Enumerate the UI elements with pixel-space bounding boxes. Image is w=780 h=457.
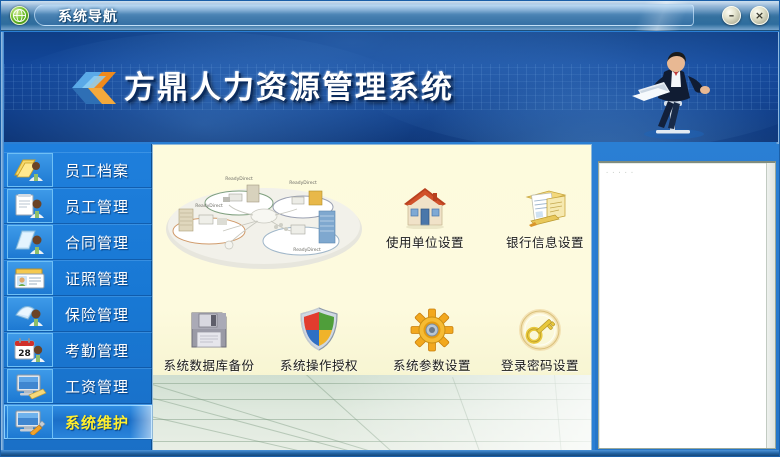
sidebar-item-label: 考勤管理 [65,340,129,361]
bank-document-icon [493,177,592,229]
svg-text:28: 28 [18,349,31,359]
window-title: 系统导航 [58,6,118,26]
svg-text:ReadyDirect: ReadyDirect [289,180,317,186]
sidebar-item-label: 保险管理 [65,304,129,325]
svg-text:ReadyDirect: ReadyDirect [293,247,321,253]
shield-icon [267,300,371,352]
app-globe-icon [10,6,29,25]
window-bottom-edge [1,450,780,456]
network-topology-illustration: ReadyDirect ReadyDirect ReadyDirect [161,163,367,275]
insurance-manage-icon [7,297,53,331]
employee-file-icon [7,153,53,187]
house-icon [373,177,477,229]
gear-icon [380,300,484,352]
tile-system-parameters[interactable]: 系统参数设置 [380,300,484,374]
right-info-panel[interactable]: ····· [598,161,776,449]
company-logo-icon [68,64,120,112]
sidebar-item-employee-manage[interactable]: 员工管理 [4,188,152,224]
sidebar-item-employee-file[interactable]: 员工档案 [4,152,152,188]
sidebar-item-label: 员工管理 [65,196,129,217]
tile-label: 系统参数设置 [380,355,484,374]
sidebar-item-label: 证照管理 [65,268,129,289]
main-content-panel: ReadyDirect ReadyDirect ReadyDirect [152,144,592,455]
system-maintenance-icon [7,405,53,439]
businessman-with-laptop-illustration [612,38,732,142]
sidebar-item-label: 系统维护 [65,412,129,433]
tile-bank-settings[interactable]: 银行信息设置 [493,177,592,251]
sidebar-item-system-maintenance[interactable]: 系统维护 [4,404,152,440]
sidebar-navigation: 员工档案 员工管理 [4,144,152,455]
application-window: 系统导航 – × 方鼎人力资源管理系统 [0,0,780,457]
svg-text:ReadyDirect: ReadyDirect [195,203,223,209]
employee-manage-icon [7,189,53,223]
tile-label: 登录密码设置 [488,355,592,374]
tile-login-password[interactable]: 登录密码设置 [488,300,592,374]
tile-label: 系统数据库备份 [157,355,261,374]
tile-label: 银行信息设置 [493,232,592,251]
sidebar-item-insurance-manage[interactable]: 保险管理 [4,296,152,332]
right-panel-scrollbar[interactable] [766,163,775,448]
payroll-monitor-icon [7,369,53,403]
title-bar: 系统导航 – × [1,1,780,31]
product-title: 方鼎人力资源管理系统 [124,62,454,107]
sidebar-item-contract-manage[interactable]: 合同管理 [4,224,152,260]
sidebar-item-label: 合同管理 [65,232,129,253]
sidebar-item-payroll-manage[interactable]: 工资管理 [4,368,152,404]
attendance-calendar-icon: 28 [7,333,53,367]
sidebar-item-license-manage[interactable]: 证照管理 [4,260,152,296]
svg-text:ReadyDirect: ReadyDirect [225,176,253,182]
tile-database-backup[interactable]: 系统数据库备份 [157,300,261,374]
floppy-disk-icon [157,300,261,352]
key-icon [488,300,592,352]
sidebar-item-label: 员工档案 [65,160,129,181]
close-button[interactable]: × [750,6,769,25]
header-banner: 方鼎人力资源管理系统 [4,32,778,142]
right-panel-placeholder: ····· [605,169,636,177]
tile-operation-authorization[interactable]: 系统操作授权 [267,300,371,374]
sidebar-item-label: 工资管理 [65,376,129,397]
sidebar-item-attendance-manage[interactable]: 28 考勤管理 [4,332,152,368]
minimize-button[interactable]: – [722,6,741,25]
perspective-floor-decoration [153,375,591,454]
tile-label: 系统操作授权 [267,355,371,374]
titlebar-pill [34,4,694,26]
tile-label: 使用单位设置 [373,232,477,251]
contract-manage-icon [7,225,53,259]
tile-unit-settings[interactable]: 使用单位设置 [373,177,477,251]
license-manage-icon [7,261,53,295]
